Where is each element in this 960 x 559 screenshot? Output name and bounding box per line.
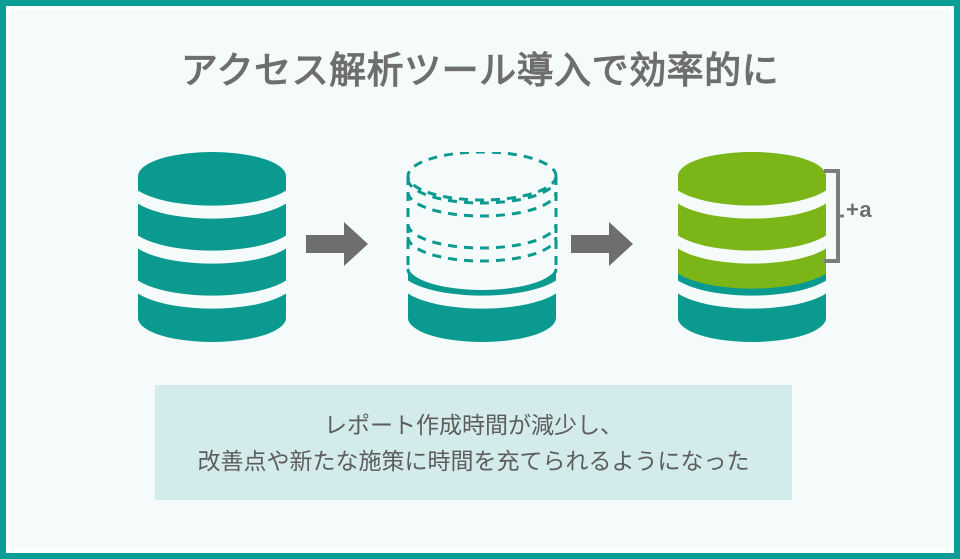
flow-arrow-2 — [571, 222, 633, 271]
caption-line-2: 改善点や新たな施策に時間を充てられるようになった — [198, 443, 750, 479]
slide-canvas: アクセス解析ツール導入で効率的に — [0, 0, 960, 559]
flow-arrow-1 — [306, 222, 368, 271]
caption-box: レポート作成時間が減少し、 改善点や新たな施策に時間を充てられるようになった — [155, 385, 792, 500]
database-cylinder-freed — [406, 152, 558, 353]
database-cylinder-expanded — [676, 152, 828, 353]
page-title: アクセス解析ツール導入で効率的に — [0, 48, 960, 94]
plus-a-label: +a — [846, 199, 872, 221]
caption-line-1: レポート作成時間が減少し、 — [324, 407, 623, 443]
capacity-bracket — [822, 168, 844, 269]
cylinder-dashed-outline — [408, 152, 556, 293]
database-cylinder-current — [136, 152, 288, 353]
